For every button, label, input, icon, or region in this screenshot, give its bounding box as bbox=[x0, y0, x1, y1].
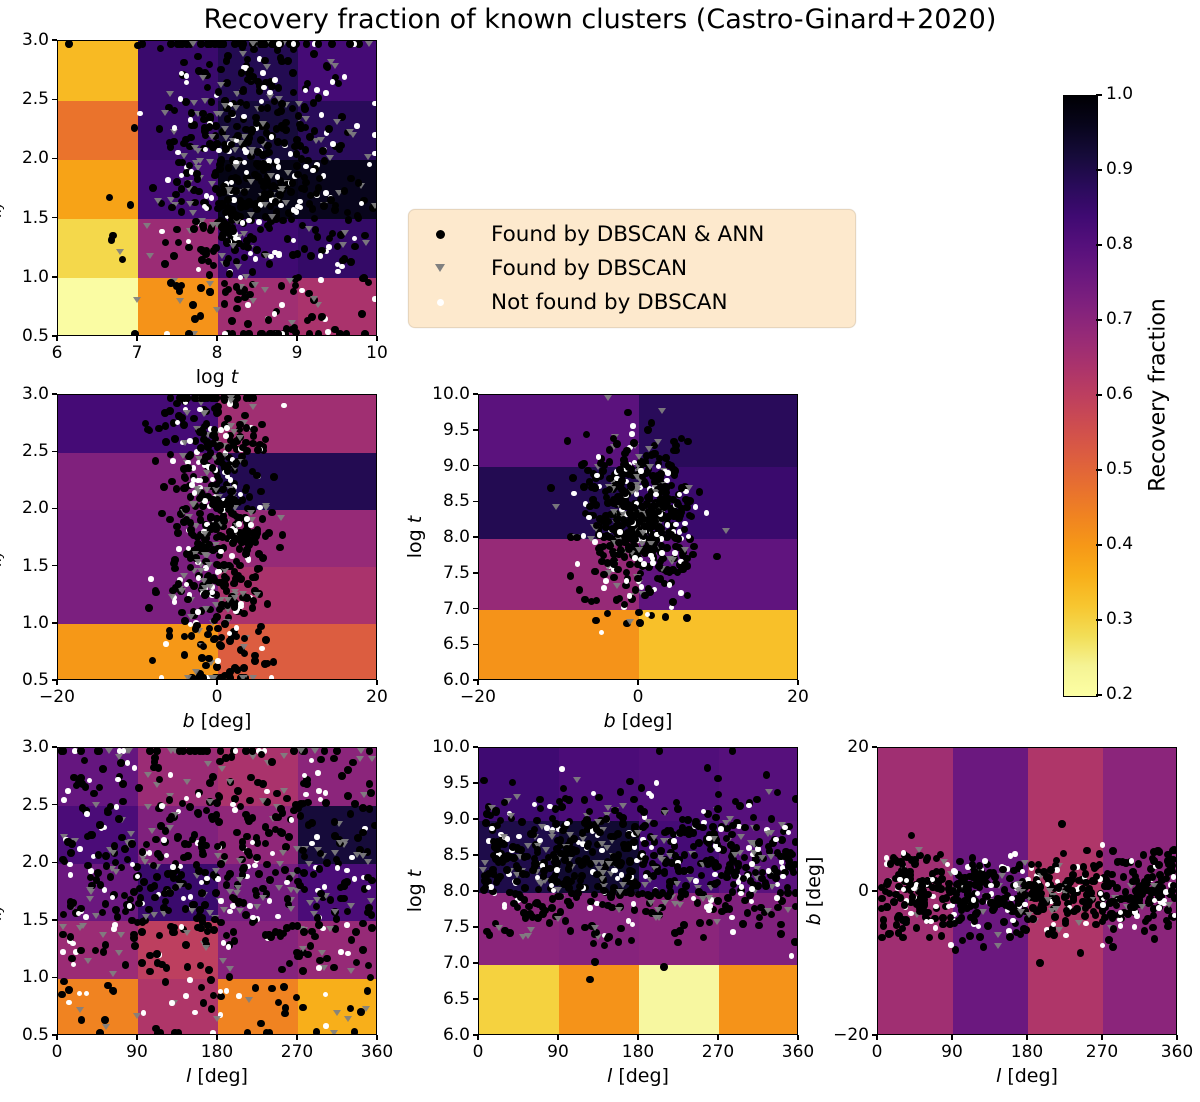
scatter-marker-not-found bbox=[712, 872, 718, 878]
scatter-marker-dbscan bbox=[183, 779, 191, 785]
scatter-marker-not-found bbox=[516, 834, 522, 840]
scatter-marker-dbscan-ann bbox=[1055, 884, 1063, 892]
x-tick bbox=[136, 336, 138, 341]
scatter-marker-dbscan-ann bbox=[672, 447, 680, 455]
scatter-marker-dbscan-ann bbox=[209, 773, 217, 781]
scatter-marker-dbscan-ann bbox=[791, 938, 798, 946]
scatter-marker-dbscan-ann bbox=[1006, 875, 1014, 883]
scatter-marker-dbscan-ann bbox=[661, 483, 669, 491]
scatter-marker-dbscan-ann bbox=[214, 625, 222, 633]
legend-marker-white-circle bbox=[423, 299, 457, 306]
scatter-marker-dbscan-ann bbox=[615, 938, 623, 946]
scatter-marker-dbscan-ann bbox=[111, 842, 119, 850]
scatter-marker-dbscan-ann bbox=[255, 550, 263, 558]
scatter-marker-dbscan bbox=[1055, 927, 1063, 933]
scatter-marker-dbscan-ann bbox=[514, 865, 522, 873]
scatter-marker-dbscan bbox=[226, 779, 234, 785]
scatter-marker-dbscan-ann bbox=[208, 1005, 216, 1013]
scatter-marker-not-found bbox=[222, 331, 228, 336]
scatter-marker-dbscan-ann bbox=[278, 122, 286, 130]
scatter-marker-dbscan-ann bbox=[239, 444, 247, 452]
scatter-marker-dbscan-ann bbox=[60, 978, 68, 986]
scatter-marker-dbscan bbox=[99, 932, 107, 938]
scatter-marker-not-found bbox=[204, 876, 210, 882]
heatmap-cell bbox=[479, 964, 560, 1035]
scatter-marker-dbscan bbox=[168, 594, 176, 600]
scatter-marker-dbscan-ann bbox=[559, 827, 567, 835]
y-tick bbox=[473, 746, 478, 748]
scatter-marker-not-found bbox=[272, 311, 278, 317]
scatter-marker-dbscan-ann bbox=[143, 841, 151, 849]
scatter-marker-dbscan-ann bbox=[117, 759, 125, 767]
colorbar-tick-label: 0.6 bbox=[1106, 384, 1133, 404]
scatter-marker-dbscan-ann bbox=[341, 187, 349, 195]
scatter-marker-not-found bbox=[164, 331, 170, 336]
scatter-marker-not-found bbox=[297, 199, 303, 205]
scatter-marker-dbscan-ann bbox=[166, 796, 174, 804]
scatter-marker-dbscan-ann bbox=[346, 40, 354, 48]
plot-area-panel-l-logt bbox=[478, 747, 798, 1035]
scatter-marker-not-found bbox=[189, 482, 195, 488]
scatter-marker-dbscan-ann bbox=[604, 499, 612, 507]
scatter-marker-dbscan-ann bbox=[242, 203, 250, 211]
scatter-marker-dbscan-ann bbox=[203, 247, 211, 255]
scatter-marker-dbscan-ann bbox=[565, 796, 573, 804]
scatter-marker-dbscan bbox=[552, 504, 560, 510]
scatter-marker-dbscan bbox=[194, 148, 202, 154]
scatter-marker-dbscan-ann bbox=[228, 317, 236, 325]
scatter-marker-not-found bbox=[586, 515, 592, 521]
scatter-marker-dbscan-ann bbox=[153, 873, 161, 881]
scatter-marker-dbscan-ann bbox=[610, 551, 618, 559]
scatter-marker-dbscan-ann bbox=[254, 446, 262, 454]
scatter-marker-dbscan-ann bbox=[194, 53, 202, 61]
scatter-marker-dbscan-ann bbox=[570, 835, 578, 843]
colorbar-tick-label: 1.0 bbox=[1106, 84, 1133, 104]
scatter-marker-dbscan-ann bbox=[308, 928, 316, 936]
scatter-marker-dbscan-ann bbox=[229, 227, 237, 235]
scatter-marker-not-found bbox=[165, 177, 171, 183]
y-tick bbox=[52, 746, 57, 748]
scatter-marker-dbscan-ann bbox=[128, 840, 136, 848]
scatter-marker-dbscan-ann bbox=[119, 780, 127, 788]
x-tick bbox=[216, 680, 218, 685]
scatter-marker-not-found bbox=[291, 41, 297, 47]
scatter-marker-dbscan bbox=[573, 777, 581, 783]
scatter-marker-dbscan-ann bbox=[672, 852, 680, 860]
scatter-marker-not-found bbox=[246, 557, 252, 563]
scatter-marker-dbscan bbox=[206, 799, 214, 805]
scatter-marker-dbscan bbox=[197, 568, 205, 574]
scatter-marker-not-found bbox=[488, 884, 494, 890]
scatter-marker-not-found bbox=[84, 811, 90, 817]
heatmap-cell bbox=[138, 978, 219, 1035]
heatmap-cell bbox=[479, 610, 640, 681]
scatter-marker-dbscan-ann bbox=[192, 394, 200, 402]
scatter-marker-dbscan-ann bbox=[319, 147, 327, 155]
legend-item-1[interactable]: Found by DBSCAN bbox=[423, 252, 843, 284]
scatter-marker-dbscan-ann bbox=[280, 983, 288, 991]
scatter-marker-dbscan bbox=[318, 950, 326, 956]
scatter-marker-dbscan-ann bbox=[521, 853, 529, 861]
scatter-marker-dbscan-ann bbox=[171, 556, 179, 564]
x-tick-label: 0 bbox=[35, 1042, 79, 1062]
scatter-marker-dbscan bbox=[115, 950, 123, 956]
scatter-marker-not-found bbox=[281, 403, 287, 409]
scatter-marker-dbscan-ann bbox=[285, 833, 293, 841]
scatter-marker-dbscan-ann bbox=[156, 125, 164, 133]
scatter-marker-dbscan-ann bbox=[299, 1004, 307, 1012]
scatter-marker-not-found bbox=[275, 914, 281, 920]
scatter-marker-dbscan bbox=[275, 885, 283, 891]
scatter-marker-dbscan-ann bbox=[506, 929, 514, 937]
scatter-marker-dbscan-ann bbox=[336, 330, 344, 336]
scatter-marker-dbscan-ann bbox=[221, 300, 229, 308]
scatter-marker-dbscan bbox=[592, 860, 600, 866]
scatter-marker-dbscan bbox=[217, 82, 225, 88]
scatter-marker-dbscan-ann bbox=[325, 125, 333, 133]
scatter-marker-dbscan-ann bbox=[182, 475, 190, 483]
scatter-marker-dbscan-ann bbox=[907, 871, 915, 879]
scatter-marker-dbscan-ann bbox=[998, 900, 1006, 908]
scatter-marker-dbscan-ann bbox=[878, 895, 886, 903]
y-tick bbox=[52, 1034, 57, 1036]
y-tick bbox=[473, 782, 478, 784]
scatter-marker-dbscan bbox=[196, 158, 204, 164]
scatter-marker-dbscan-ann bbox=[777, 921, 785, 929]
scatter-marker-dbscan-ann bbox=[189, 301, 197, 309]
scatter-marker-not-found bbox=[933, 925, 939, 931]
scatter-marker-dbscan bbox=[639, 530, 647, 536]
scatter-marker-dbscan-ann bbox=[311, 215, 319, 223]
scatter-marker-dbscan bbox=[605, 861, 613, 867]
scatter-marker-dbscan-ann bbox=[620, 841, 628, 849]
scatter-marker-dbscan bbox=[213, 1016, 221, 1022]
scatter-marker-dbscan bbox=[86, 887, 94, 893]
scatter-marker-dbscan-ann bbox=[322, 799, 330, 807]
scatter-marker-dbscan-ann bbox=[596, 544, 604, 552]
x-tick bbox=[717, 1035, 719, 1040]
scatter-marker-not-found bbox=[170, 458, 176, 464]
heatmap-cell bbox=[58, 159, 139, 219]
scatter-marker-dbscan-ann bbox=[152, 836, 160, 844]
scatter-marker-dbscan-ann bbox=[661, 829, 669, 837]
scatter-marker-dbscan-ann bbox=[270, 473, 278, 481]
y-tick-label: 7.0 bbox=[424, 599, 470, 619]
scatter-marker-dbscan-ann bbox=[165, 907, 173, 915]
legend-item-2[interactable]: Not found by DBSCAN bbox=[423, 286, 843, 318]
scatter-marker-dbscan-ann bbox=[592, 617, 600, 625]
scatter-marker-dbscan-ann bbox=[953, 881, 961, 889]
scatter-marker-dbscan bbox=[117, 932, 125, 938]
scatter-marker-dbscan-ann bbox=[184, 596, 192, 604]
scatter-marker-dbscan-ann bbox=[246, 291, 254, 299]
scatter-marker-dbscan-ann bbox=[217, 66, 225, 74]
scatter-marker-dbscan bbox=[286, 278, 294, 284]
scatter-marker-dbscan-ann bbox=[754, 882, 762, 890]
scatter-marker-dbscan-ann bbox=[712, 814, 720, 822]
scatter-marker-dbscan-ann bbox=[182, 941, 190, 949]
y-tick-label: 6.5 bbox=[424, 634, 470, 654]
scatter-marker-dbscan-ann bbox=[1080, 863, 1088, 871]
scatter-marker-dbscan-ann bbox=[644, 426, 652, 434]
scatter-marker-dbscan-ann bbox=[1028, 890, 1036, 898]
scatter-marker-dbscan bbox=[249, 675, 257, 680]
scatter-marker-dbscan-ann bbox=[626, 887, 634, 895]
scatter-marker-not-found bbox=[115, 777, 121, 783]
scatter-marker-dbscan-ann bbox=[102, 900, 110, 908]
scatter-marker-dbscan-ann bbox=[197, 40, 205, 48]
scatter-marker-not-found bbox=[335, 269, 341, 275]
scatter-marker-dbscan bbox=[994, 932, 1002, 938]
y-tick-label: 6.0 bbox=[424, 1025, 470, 1045]
scatter-marker-dbscan bbox=[233, 890, 241, 896]
scatter-marker-dbscan-ann bbox=[134, 42, 142, 50]
scatter-marker-dbscan-ann bbox=[330, 755, 338, 763]
scatter-marker-dbscan-ann bbox=[500, 841, 508, 849]
scatter-marker-dbscan-ann bbox=[162, 239, 170, 247]
scatter-marker-dbscan bbox=[178, 588, 186, 594]
scatter-marker-not-found bbox=[88, 868, 94, 874]
scatter-marker-dbscan bbox=[330, 1030, 338, 1035]
figure-canvas: Recovery fraction of known clusters (Cas… bbox=[0, 0, 1200, 1102]
scatter-marker-dbscan-ann bbox=[1036, 959, 1044, 967]
scatter-marker-dbscan bbox=[266, 94, 274, 100]
scatter-marker-not-found bbox=[245, 302, 251, 308]
scatter-marker-dbscan-ann bbox=[244, 1029, 252, 1035]
scatter-marker-dbscan-ann bbox=[212, 889, 220, 897]
scatter-marker-dbscan bbox=[201, 531, 209, 537]
scatter-marker-dbscan-ann bbox=[205, 572, 213, 580]
scatter-marker-not-found bbox=[276, 41, 282, 47]
scatter-marker-dbscan bbox=[116, 249, 124, 255]
scatter-marker-dbscan-ann bbox=[224, 874, 232, 882]
heatmap-cell bbox=[58, 100, 139, 160]
scatter-marker-dbscan bbox=[548, 834, 556, 840]
scatter-marker-dbscan-ann bbox=[219, 533, 227, 541]
scatter-marker-dbscan-ann bbox=[366, 747, 374, 755]
scatter-marker-dbscan-ann bbox=[626, 857, 634, 865]
scatter-marker-dbscan-ann bbox=[316, 865, 324, 873]
scatter-marker-not-found bbox=[1054, 867, 1060, 873]
scatter-marker-not-found bbox=[780, 874, 786, 880]
scatter-marker-dbscan-ann bbox=[929, 884, 937, 892]
x-tick-label: 180 bbox=[1005, 1042, 1049, 1062]
scatter-marker-dbscan-ann bbox=[249, 747, 257, 755]
scatter-marker-dbscan-ann bbox=[662, 613, 670, 621]
scatter-marker-dbscan bbox=[784, 907, 792, 913]
scatter-marker-dbscan-ann bbox=[626, 561, 634, 569]
scatter-marker-dbscan bbox=[347, 968, 355, 974]
scatter-marker-not-found bbox=[210, 1030, 216, 1035]
scatter-marker-dbscan bbox=[357, 748, 365, 754]
scatter-marker-dbscan-ann bbox=[263, 1029, 271, 1035]
scatter-marker-dbscan-ann bbox=[1110, 898, 1118, 906]
scatter-marker-dbscan-ann bbox=[638, 784, 646, 792]
scatter-marker-dbscan-ann bbox=[640, 808, 648, 816]
scatter-marker-dbscan bbox=[344, 1016, 352, 1022]
scatter-marker-not-found bbox=[323, 1023, 329, 1029]
scatter-marker-dbscan bbox=[280, 753, 288, 759]
scatter-marker-dbscan-ann bbox=[337, 895, 345, 903]
scatter-marker-dbscan-ann bbox=[233, 305, 241, 313]
scatter-marker-not-found bbox=[169, 1000, 175, 1006]
x-tick-label: 6 bbox=[35, 343, 79, 363]
scatter-marker-dbscan-ann bbox=[722, 906, 730, 914]
scatter-marker-dbscan-ann bbox=[884, 878, 892, 886]
scatter-marker-dbscan-ann bbox=[197, 312, 205, 320]
scatter-marker-not-found bbox=[269, 675, 275, 680]
scatter-marker-dbscan-ann bbox=[299, 967, 307, 975]
scatter-marker-not-found bbox=[67, 862, 73, 868]
y-tick bbox=[872, 1034, 877, 1036]
scatter-marker-dbscan bbox=[722, 528, 730, 534]
scatter-marker-dbscan bbox=[183, 930, 191, 936]
scatter-marker-dbscan-ann bbox=[1110, 925, 1118, 933]
x-tick-label: 90 bbox=[930, 1042, 974, 1062]
scatter-marker-dbscan-ann bbox=[275, 84, 283, 92]
scatter-marker-dbscan-ann bbox=[181, 394, 189, 402]
scatter-marker-dbscan-ann bbox=[686, 866, 694, 874]
scatter-marker-dbscan-ann bbox=[662, 454, 670, 462]
scatter-marker-not-found bbox=[330, 141, 336, 147]
scatter-marker-dbscan bbox=[105, 748, 113, 754]
scatter-marker-dbscan bbox=[218, 766, 226, 772]
scatter-marker-dbscan-ann bbox=[521, 884, 529, 892]
scatter-marker-dbscan-ann bbox=[200, 394, 208, 402]
scatter-marker-dbscan-ann bbox=[624, 529, 632, 537]
y-tick bbox=[52, 565, 57, 567]
scatter-marker-dbscan-ann bbox=[1170, 846, 1177, 854]
scatter-marker-dbscan bbox=[279, 850, 287, 856]
y-tick-label: 0.5 bbox=[3, 1025, 49, 1045]
scatter-marker-dbscan bbox=[537, 881, 545, 887]
scatter-marker-dbscan bbox=[92, 913, 100, 919]
scatter-marker-not-found bbox=[176, 546, 182, 552]
scatter-marker-dbscan bbox=[524, 843, 532, 849]
scatter-marker-not-found bbox=[224, 988, 230, 994]
scatter-marker-dbscan-ann bbox=[777, 930, 785, 938]
scatter-marker-not-found bbox=[372, 132, 377, 138]
scatter-marker-dbscan bbox=[767, 854, 775, 860]
y-tick bbox=[473, 429, 478, 431]
scatter-marker-dbscan-ann bbox=[1156, 848, 1164, 856]
scatter-marker-dbscan-ann bbox=[199, 918, 207, 926]
scatter-marker-dbscan-ann bbox=[118, 834, 126, 842]
scatter-marker-dbscan-ann bbox=[564, 437, 572, 445]
scatter-marker-not-found bbox=[127, 903, 133, 909]
scatter-marker-dbscan-ann bbox=[171, 1029, 179, 1035]
scatter-marker-not-found bbox=[148, 576, 154, 582]
legend-item-0[interactable]: Found by DBSCAN & ANN bbox=[423, 218, 843, 250]
scatter-marker-not-found bbox=[587, 905, 593, 911]
scatter-marker-dbscan-ann bbox=[178, 609, 186, 617]
scatter-marker-dbscan-ann bbox=[67, 933, 75, 941]
scatter-marker-dbscan-ann bbox=[792, 795, 798, 803]
scatter-marker-not-found bbox=[901, 850, 907, 856]
scatter-marker-dbscan-ann bbox=[1070, 894, 1078, 902]
scatter-marker-dbscan-ann bbox=[301, 185, 309, 193]
y-tick-label: 0 bbox=[823, 881, 869, 901]
scatter-marker-dbscan-ann bbox=[90, 790, 98, 798]
scatter-marker-dbscan-ann bbox=[215, 818, 223, 826]
y-tick-label: 9.0 bbox=[424, 809, 470, 829]
scatter-marker-dbscan bbox=[661, 810, 669, 816]
scatter-marker-dbscan-ann bbox=[168, 478, 176, 486]
scatter-marker-dbscan bbox=[167, 748, 175, 754]
scatter-marker-not-found bbox=[325, 329, 331, 335]
scatter-marker-dbscan-ann bbox=[250, 46, 258, 54]
scatter-marker-not-found bbox=[233, 748, 239, 754]
scatter-marker-dbscan bbox=[231, 595, 239, 601]
scatter-marker-dbscan bbox=[189, 210, 197, 216]
scatter-marker-dbscan-ann bbox=[1137, 889, 1145, 897]
scatter-marker-not-found bbox=[236, 993, 242, 999]
y-axis-label: dxy [kpc] bbox=[0, 850, 5, 932]
x-tick-label: 20 bbox=[776, 687, 820, 707]
y-tick bbox=[52, 804, 57, 806]
scatter-marker-not-found bbox=[1010, 918, 1016, 924]
y-tick bbox=[473, 465, 478, 467]
scatter-marker-not-found bbox=[704, 510, 710, 516]
scatter-marker-dbscan bbox=[660, 838, 668, 844]
scatter-marker-dbscan-ann bbox=[171, 435, 179, 443]
y-tick bbox=[52, 977, 57, 979]
scatter-marker-dbscan-ann bbox=[244, 580, 252, 588]
scatter-marker-dbscan bbox=[188, 908, 196, 914]
scatter-marker-dbscan-ann bbox=[240, 40, 248, 48]
scatter-marker-not-found bbox=[279, 302, 285, 308]
scatter-marker-dbscan-ann bbox=[226, 637, 234, 645]
scatter-marker-not-found bbox=[61, 797, 67, 803]
scatter-marker-dbscan-ann bbox=[284, 895, 292, 903]
scatter-marker-dbscan-ann bbox=[227, 494, 235, 502]
scatter-marker-dbscan-ann bbox=[293, 136, 301, 144]
scatter-marker-dbscan-ann bbox=[1010, 867, 1018, 875]
scatter-marker-not-found bbox=[83, 914, 89, 920]
scatter-marker-dbscan-ann bbox=[367, 789, 375, 797]
y-tick-label: 2.0 bbox=[3, 148, 49, 168]
scatter-marker-dbscan bbox=[305, 861, 313, 867]
scatter-marker-dbscan-ann bbox=[762, 882, 770, 890]
scatter-marker-dbscan bbox=[671, 901, 679, 907]
scatter-marker-dbscan-ann bbox=[226, 528, 234, 536]
scatter-marker-dbscan-ann bbox=[924, 909, 932, 917]
y-axis-label: dxy [kpc] bbox=[0, 496, 5, 578]
scatter-marker-dbscan-ann bbox=[146, 968, 154, 976]
legend-label: Not found by DBSCAN bbox=[491, 290, 728, 315]
legend-marker-gray-triangle-down bbox=[423, 264, 457, 272]
colorbar-tick-label: 0.2 bbox=[1106, 684, 1133, 704]
scatter-marker-dbscan-ann bbox=[741, 824, 749, 832]
scatter-marker-dbscan-ann bbox=[526, 910, 534, 918]
scatter-marker-dbscan bbox=[245, 997, 253, 1003]
scatter-marker-dbscan-ann bbox=[641, 840, 649, 848]
scatter-marker-dbscan bbox=[142, 914, 150, 920]
scatter-marker-dbscan-ann bbox=[359, 946, 367, 954]
scatter-marker-dbscan-ann bbox=[891, 856, 899, 864]
scatter-marker-dbscan-ann bbox=[252, 984, 260, 992]
scatter-marker-dbscan-ann bbox=[243, 594, 251, 602]
scatter-marker-dbscan bbox=[626, 619, 634, 625]
scatter-marker-dbscan-ann bbox=[229, 330, 237, 336]
scatter-marker-dbscan-ann bbox=[312, 226, 320, 234]
scatter-marker-dbscan bbox=[262, 503, 270, 509]
scatter-marker-dbscan bbox=[915, 847, 923, 853]
scatter-marker-dbscan bbox=[341, 839, 349, 845]
scatter-marker-dbscan-ann bbox=[594, 883, 602, 891]
scatter-marker-dbscan bbox=[201, 552, 209, 558]
